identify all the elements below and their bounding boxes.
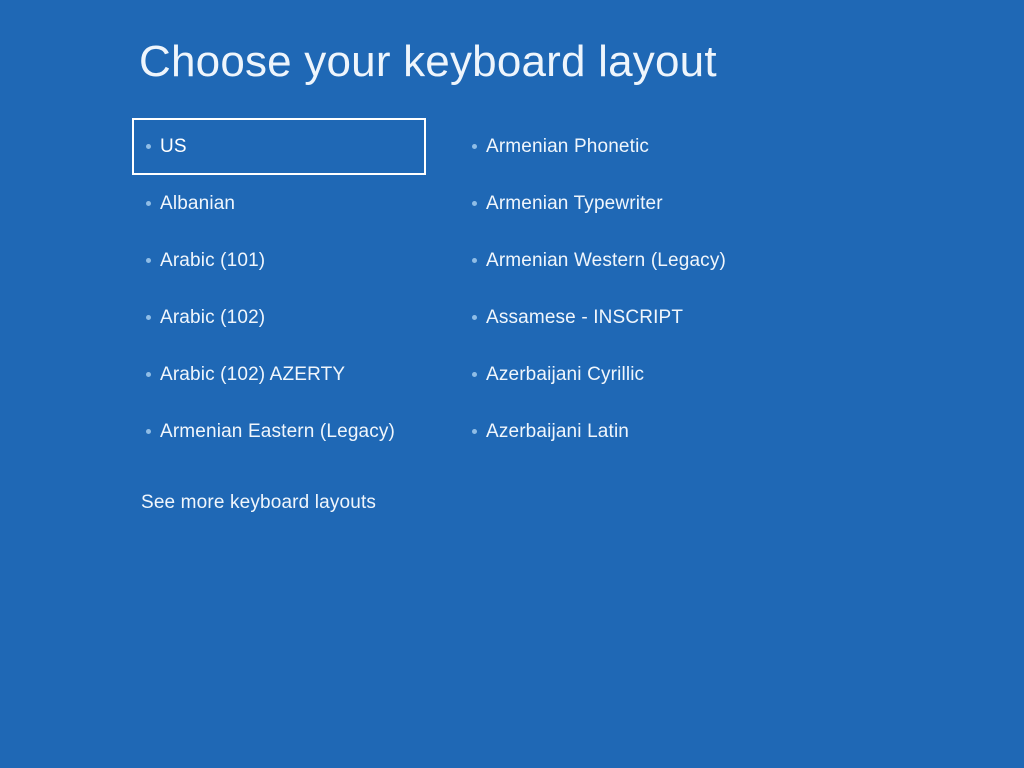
keyboard-layout-item-label: Arabic (101): [160, 250, 265, 272]
keyboard-layout-item-label: US: [160, 136, 187, 158]
keyboard-layout-item[interactable]: Armenian Phonetic: [460, 118, 790, 175]
keyboard-layout-item[interactable]: Azerbaijani Cyrillic: [460, 346, 790, 403]
keyboard-layout-item-label: Armenian Phonetic: [486, 136, 649, 158]
bullet-icon: [146, 372, 151, 377]
bullet-icon: [472, 315, 477, 320]
see-more-keyboard-layouts-link[interactable]: See more keyboard layouts: [141, 492, 376, 514]
keyboard-layout-item[interactable]: Albanian: [132, 175, 426, 232]
bullet-icon: [146, 201, 151, 206]
keyboard-layout-item-label: Assamese - INSCRIPT: [486, 307, 683, 329]
bullet-icon: [472, 144, 477, 149]
bullet-icon: [472, 372, 477, 377]
keyboard-layout-item-label: Armenian Eastern (Legacy): [160, 421, 395, 443]
keyboard-layout-item[interactable]: Armenian Eastern (Legacy): [132, 403, 426, 460]
bullet-icon: [146, 144, 151, 149]
bullet-icon: [146, 258, 151, 263]
keyboard-layout-item-label: Albanian: [160, 193, 235, 215]
page-title: Choose your keyboard layout: [139, 38, 717, 86]
bullet-icon: [472, 429, 477, 434]
keyboard-layout-item-label: Armenian Western (Legacy): [486, 250, 726, 272]
bullet-icon: [472, 258, 477, 263]
bullet-icon: [146, 315, 151, 320]
keyboard-layout-item[interactable]: Azerbaijani Latin: [460, 403, 790, 460]
bullet-icon: [146, 429, 151, 434]
keyboard-layout-item-label: Arabic (102): [160, 307, 265, 329]
keyboard-layout-item[interactable]: US: [132, 118, 426, 175]
keyboard-layout-item[interactable]: Arabic (101): [132, 232, 426, 289]
bullet-icon: [472, 201, 477, 206]
keyboard-layout-column-left: USAlbanianArabic (101)Arabic (102)Arabic…: [132, 118, 432, 460]
keyboard-layout-screen: Choose your keyboard layout USAlbanianAr…: [0, 0, 1024, 768]
keyboard-layout-item-label: Arabic (102) AZERTY: [160, 364, 345, 386]
keyboard-layout-item[interactable]: Assamese - INSCRIPT: [460, 289, 790, 346]
keyboard-layout-item[interactable]: Armenian Western (Legacy): [460, 232, 790, 289]
keyboard-layout-item-label: Armenian Typewriter: [486, 193, 663, 215]
keyboard-layout-item-label: Azerbaijani Cyrillic: [486, 364, 644, 386]
keyboard-layout-item-label: Azerbaijani Latin: [486, 421, 629, 443]
keyboard-layout-item[interactable]: Arabic (102): [132, 289, 426, 346]
keyboard-layout-column-right: Armenian PhoneticArmenian TypewriterArme…: [460, 118, 800, 460]
keyboard-layout-item[interactable]: Armenian Typewriter: [460, 175, 790, 232]
keyboard-layout-item[interactable]: Arabic (102) AZERTY: [132, 346, 426, 403]
